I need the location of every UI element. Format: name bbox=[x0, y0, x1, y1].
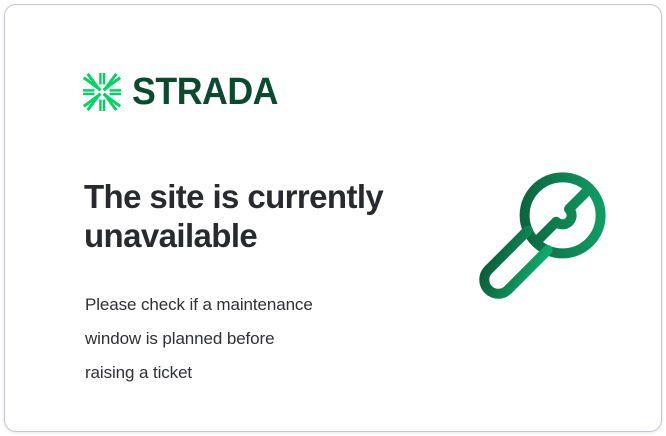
page-title: The site is currently unavailable bbox=[84, 177, 424, 255]
brand-logo: STRADA bbox=[83, 73, 287, 111]
error-page-screen: STRADA The site is currently unavailable… bbox=[0, 0, 666, 436]
strada-asterisk-icon bbox=[83, 73, 121, 111]
page-description: Please check if a maintenance window is … bbox=[85, 288, 415, 390]
brand-wordmark: STRADA bbox=[132, 73, 278, 111]
status-card: STRADA The site is currently unavailable… bbox=[4, 4, 662, 432]
wrench-icon bbox=[460, 157, 620, 319]
